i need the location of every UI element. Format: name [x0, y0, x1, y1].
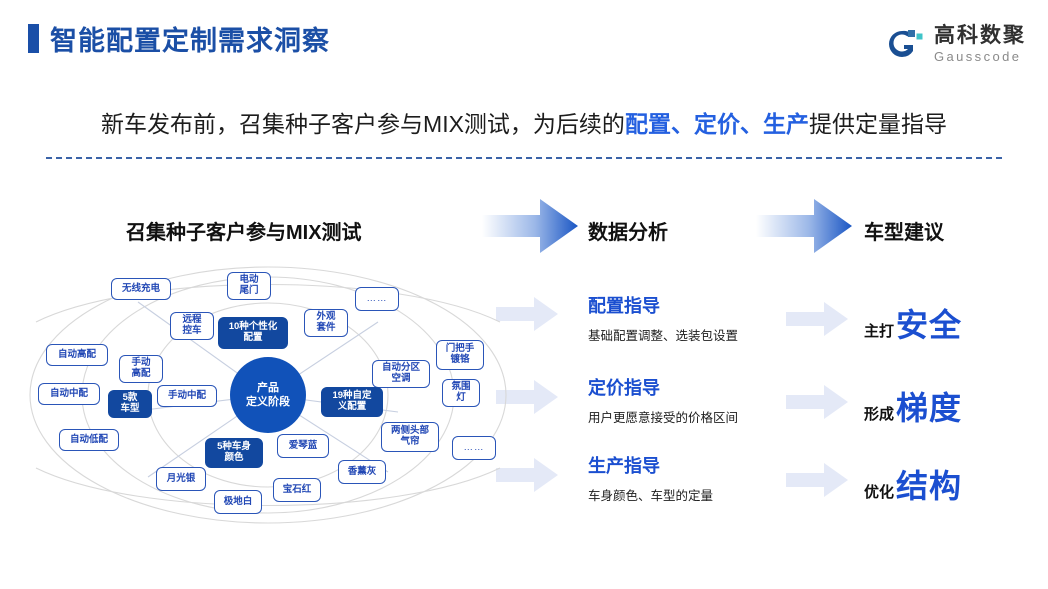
diagram-option-node: 自动分区 空调 [372, 360, 430, 388]
diagram-option-node: …… [355, 287, 399, 311]
analysis-title: 生产指导 [588, 456, 788, 478]
gausscode-logo-icon [887, 28, 925, 60]
suggestion-prefix: 优化 [864, 481, 894, 502]
diagram-option-node: 电动 尾门 [227, 272, 271, 300]
suggestion-row-structure: 优化 结构 [864, 461, 962, 507]
result-arrow-structure-icon [786, 463, 848, 497]
diagram-option-node: 极地白 [214, 490, 262, 514]
result-arrow-safety-icon [786, 302, 848, 336]
diagram-option-node: 自动低配 [59, 429, 119, 451]
diagram-center-node: 产品 定义阶段 [230, 357, 306, 433]
suggestion-prefix: 主打 [864, 320, 894, 341]
diagram-category-node: 5款 车型 [108, 390, 152, 418]
title-accent-bar [28, 24, 39, 53]
stage-arrow-1-icon [482, 199, 578, 253]
suggestion-row-safety: 主打 安全 [864, 300, 962, 346]
suggestion-keyword: 梯度 [896, 383, 962, 429]
page-title: 智能配置定制需求洞察 [50, 19, 330, 58]
suggestion-row-tier: 形成 梯度 [864, 383, 962, 429]
diagram-option-node: 香薰灰 [338, 460, 386, 484]
result-arrow-tier-icon [786, 385, 848, 419]
diagram-option-node: 氛围 灯 [442, 379, 480, 407]
diagram-category-node: 5种车身 颜色 [205, 438, 263, 468]
diagram-option-node: 自动中配 [38, 383, 100, 405]
analysis-desc: 基础配置调整、选装包设置 [588, 325, 788, 344]
suggestion-keyword: 结构 [896, 461, 962, 507]
diagram-option-node: 自动高配 [46, 344, 108, 366]
diagram-option-node: 爱琴蓝 [277, 434, 329, 458]
stage-arrow-2-icon [756, 199, 852, 253]
stage-header-mix-test: 召集种子客户参与MIX测试 [126, 216, 362, 245]
suggestion-prefix: 形成 [864, 403, 894, 424]
diagram-option-node: 外观 套件 [304, 309, 348, 337]
analysis-row-production: 生产指导 车身颜色、车型的定量 [588, 456, 788, 504]
analysis-row-pricing: 定价指导 用户更愿意接受的价格区间 [588, 378, 788, 426]
section-divider [46, 157, 1002, 159]
stage-header-data-analysis: 数据分析 [588, 216, 668, 245]
diagram-option-node: …… [452, 436, 496, 460]
logo-chinese-name: 高科数聚 [934, 25, 1026, 46]
brand-logo: 高科数聚 Gausscode [887, 22, 1026, 66]
analysis-title: 定价指导 [588, 378, 788, 400]
subtitle: 新车发布前，召集种子客户参与MIX测试，为后续的配置、定价、生产提供定量指导 [0, 105, 1048, 139]
page-header: 智能配置定制需求洞察 高科数聚 Gausscode [0, 0, 1048, 86]
analysis-desc: 车身颜色、车型的定量 [588, 485, 788, 504]
product-definition-diagram: 产品 定义阶段 无线充电电动 尾门……远程 控车10种个性化 配置外观 套件门把… [18, 262, 518, 528]
logo-text: 高科数聚 Gausscode [934, 25, 1026, 63]
diagram-option-node: 手动中配 [157, 385, 217, 407]
stage-header-model-suggestion: 车型建议 [864, 216, 944, 245]
analysis-row-config: 配置指导 基础配置调整、选装包设置 [588, 296, 788, 344]
subtitle-part1: 新车发布前，召集种子客户参与MIX测试，为后续的 [101, 111, 625, 137]
analysis-desc: 用户更愿意接受的价格区间 [588, 407, 788, 426]
suggestion-keyword: 安全 [896, 300, 962, 346]
subtitle-part2: 提供定量指导 [809, 111, 947, 137]
diagram-category-node: 19种自定 义配置 [321, 387, 383, 417]
subtitle-highlight: 配置、定价、生产 [625, 111, 809, 137]
diagram-option-node: 远程 控车 [170, 312, 214, 340]
diagram-option-node: 手动 高配 [119, 355, 163, 383]
diagram-option-node: 两侧头部 气帘 [381, 422, 439, 452]
logo-english-name: Gausscode [934, 50, 1026, 63]
analysis-title: 配置指导 [588, 296, 788, 318]
diagram-option-node: 月光银 [156, 467, 206, 491]
diagram-option-node: 门把手 镀铬 [436, 340, 484, 370]
diagram-option-node: 宝石红 [273, 478, 321, 502]
diagram-option-node: 无线充电 [111, 278, 171, 300]
diagram-category-node: 10种个性化 配置 [218, 317, 288, 349]
